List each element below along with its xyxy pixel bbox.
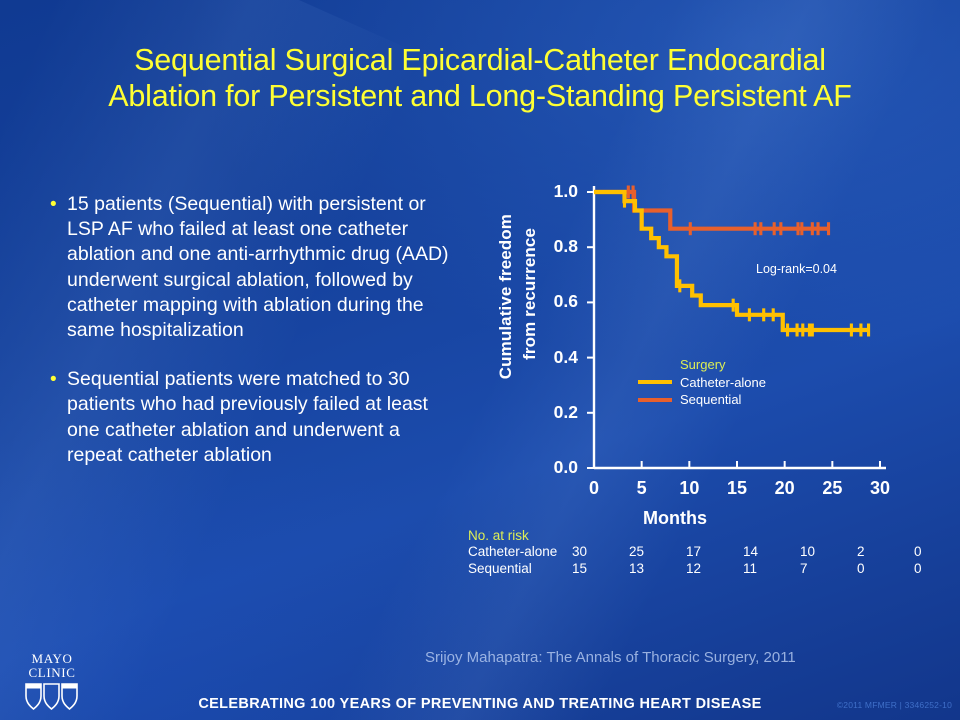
- risk-row-value: 17: [686, 544, 743, 561]
- slide-title: Sequential Surgical Epicardial-Catheter …: [28, 42, 932, 114]
- bullet-text: 15 patients (Sequential) with persistent…: [67, 192, 456, 343]
- plot-area: [468, 170, 938, 500]
- legend-title: Surgery: [638, 356, 766, 374]
- chart-legend: Surgery Catheter-alone Sequential: [638, 356, 766, 409]
- bullet-list: • 15 patients (Sequential) with persiste…: [50, 192, 456, 488]
- risk-row-value: 10: [800, 544, 857, 561]
- slide-title-line-2: Ablation for Persistent and Long-Standin…: [28, 78, 932, 114]
- number-at-risk-table: No. at risk Catheter-alone302517141020Se…: [468, 528, 908, 577]
- risk-row-value: 13: [629, 561, 686, 578]
- risk-row-value: 2: [857, 544, 914, 561]
- risk-table-body: Catheter-alone302517141020Sequential1513…: [468, 544, 908, 577]
- kaplan-meier-chart: Cumulative freedom from recurrence 0.00.…: [468, 170, 938, 500]
- log-rank-annotation: Log-rank=0.04: [756, 262, 837, 276]
- risk-table-title: No. at risk: [468, 528, 908, 543]
- logo-text-mayo: MAYO: [14, 652, 90, 666]
- risk-row-label: Sequential: [468, 561, 572, 578]
- risk-row-value: 14: [743, 544, 800, 561]
- risk-row-value: 12: [686, 561, 743, 578]
- bullet-text: Sequential patients were matched to 30 p…: [67, 367, 456, 468]
- footer-band-text: CELEBRATING 100 YEARS OF PREVENTING AND …: [0, 696, 960, 712]
- series-line-catheter-alone: [594, 192, 869, 330]
- bullet-marker-icon: •: [50, 192, 67, 217]
- risk-row-value: 25: [629, 544, 686, 561]
- risk-row-value: 0: [914, 561, 960, 578]
- slide-title-line-1: Sequential Surgical Epicardial-Catheter …: [28, 42, 932, 78]
- list-item: • Sequential patients were matched to 30…: [50, 367, 456, 468]
- citation-text: Srijoy Mahapatra: The Annals of Thoracic…: [425, 649, 796, 666]
- risk-row-value: 0: [857, 561, 914, 578]
- legend-label-sequential: Sequential: [680, 391, 741, 409]
- logo-text-clinic: CLINIC: [14, 666, 90, 680]
- legend-item-catheter-alone: Catheter-alone: [638, 374, 766, 392]
- legend-swatch-sequential: [638, 398, 672, 402]
- risk-table-row: Sequential15131211700: [468, 561, 908, 578]
- list-item: • 15 patients (Sequential) with persiste…: [50, 192, 456, 343]
- copyright-text: ©2011 MFMER | 3346252-10: [837, 700, 952, 710]
- bullet-marker-icon: •: [50, 367, 67, 392]
- risk-row-value: 7: [800, 561, 857, 578]
- legend-label-catheter-alone: Catheter-alone: [680, 374, 766, 392]
- risk-row-value: 15: [572, 561, 629, 578]
- legend-item-sequential: Sequential: [638, 391, 766, 409]
- x-axis-label: Months: [643, 508, 707, 529]
- risk-row-label: Catheter-alone: [468, 544, 572, 561]
- risk-table-row: Catheter-alone302517141020: [468, 544, 908, 561]
- risk-row-value: 11: [743, 561, 800, 578]
- slide-canvas: Sequential Surgical Epicardial-Catheter …: [0, 0, 960, 720]
- legend-swatch-catheter-alone: [638, 380, 672, 384]
- risk-row-value: 0: [914, 544, 960, 561]
- risk-row-value: 30: [572, 544, 629, 561]
